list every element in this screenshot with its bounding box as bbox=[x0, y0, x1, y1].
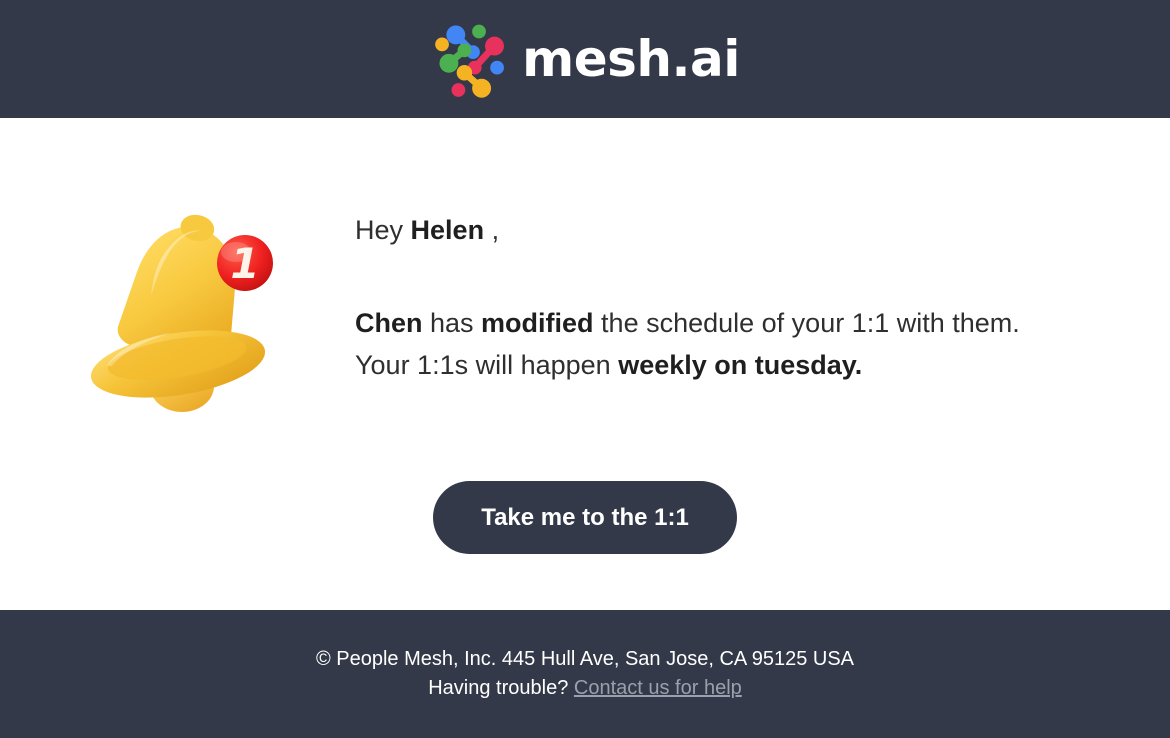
brand-logo[interactable]: mesh.ai bbox=[430, 16, 740, 102]
illustration-column: 1 bbox=[0, 196, 355, 419]
brand-wordmark: mesh.ai bbox=[522, 34, 740, 84]
email-footer: © People Mesh, Inc. 445 Hull Ave, San Jo… bbox=[0, 610, 1170, 738]
text-column: Hey Helen , Chen has modified the schedu… bbox=[355, 196, 1170, 386]
greeting-line: Hey Helen , bbox=[355, 214, 1170, 248]
footer-help-line: Having trouble? Contact us for help bbox=[428, 675, 742, 702]
mesh-network-logo-icon bbox=[430, 16, 516, 102]
contact-us-link[interactable]: Contact us for help bbox=[574, 677, 742, 699]
greeting-prefix: Hey bbox=[355, 215, 411, 245]
message-action: modified bbox=[481, 308, 594, 338]
email-body: 1 Hey Helen , Chen has modified the sche… bbox=[0, 118, 1170, 610]
actor-name: Chen bbox=[355, 308, 423, 338]
message-part2: the schedule of your 1:1 with them. bbox=[594, 308, 1020, 338]
take-me-to-the-1-1-button[interactable]: Take me to the 1:1 bbox=[433, 481, 737, 554]
message-line2-prefix: Your 1:1s will happen bbox=[355, 350, 618, 380]
cta-row: Take me to the 1:1 bbox=[0, 481, 1170, 554]
email-container: mesh.ai bbox=[0, 0, 1170, 738]
badge-count: 1 bbox=[230, 239, 259, 288]
message-schedule: weekly on tuesday. bbox=[618, 350, 862, 380]
message-body: Chen has modified the schedule of your 1… bbox=[355, 303, 1170, 387]
content-row: 1 Hey Helen , Chen has modified the sche… bbox=[0, 118, 1170, 419]
email-header: mesh.ai bbox=[0, 0, 1170, 118]
footer-help-prefix: Having trouble? bbox=[428, 677, 574, 699]
recipient-name: Helen bbox=[411, 215, 485, 245]
greeting-suffix: , bbox=[484, 215, 499, 245]
message-part1: has bbox=[423, 308, 482, 338]
badge-group: 1 bbox=[217, 235, 273, 291]
footer-address: © People Mesh, Inc. 445 Hull Ave, San Jo… bbox=[316, 646, 854, 673]
bell-notification-icon: 1 bbox=[70, 204, 285, 419]
